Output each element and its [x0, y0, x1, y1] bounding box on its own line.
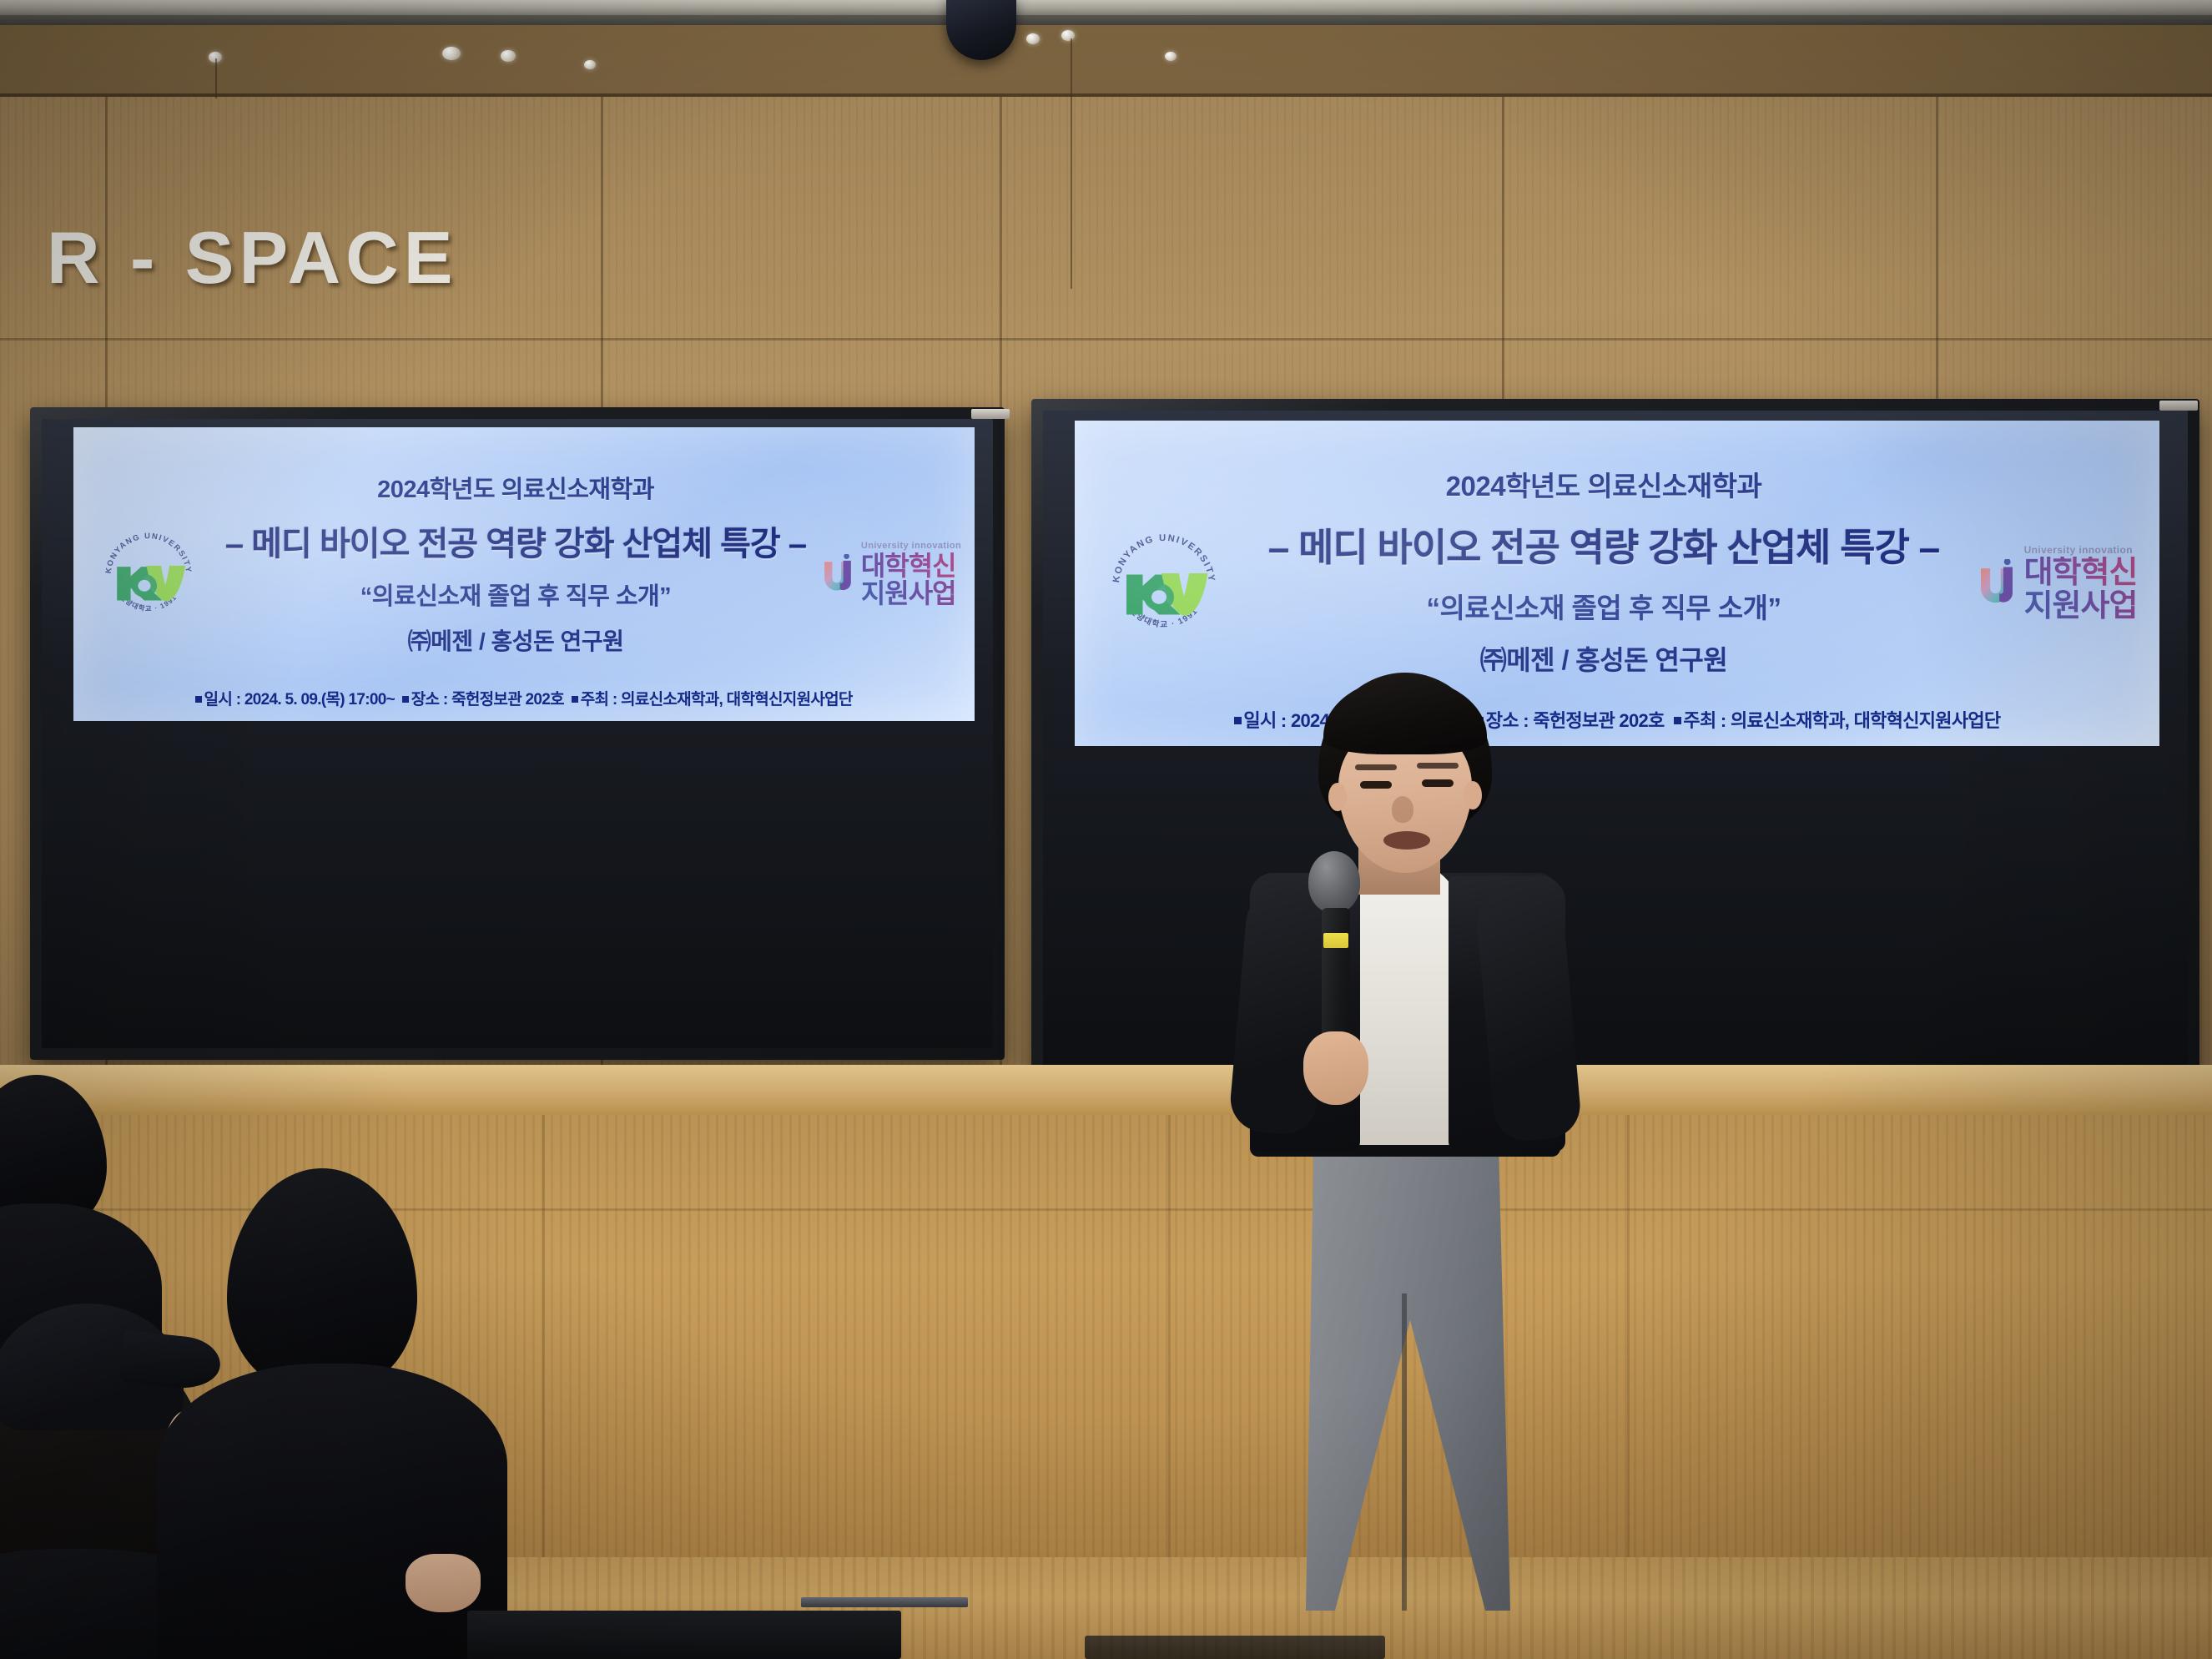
speaker-brow-left — [1355, 764, 1397, 770]
slide-title: – 메디 바이오 전공 역량 강화 산업체 특강 – — [1268, 517, 1940, 572]
ceiling-light-icon — [584, 60, 596, 69]
lecture-hall-photo: R - SPACE — [0, 0, 2212, 1659]
ui-logo-korean-2: 지원사업 — [861, 580, 961, 607]
ui-logo-korean-1: 대학혁신 — [861, 552, 961, 579]
display-sensor-icon — [2159, 401, 2198, 411]
slide-subtitle: “의료신소재 졸업 후 직무 소개” — [1427, 586, 1781, 626]
right-slide: KONYANG UNIVERSITY 건양대학교 · 1991 — [1075, 421, 2159, 746]
venue-wall-sign: R - SPACE — [47, 215, 457, 300]
bullet-square-icon — [1674, 717, 1681, 724]
trouser-seam — [1402, 1293, 1407, 1611]
footer-host-value: 의료신소재학과, 대학혁신지원사업단 — [621, 691, 853, 708]
university-innovation-logo-icon: University innovation 대학혁신 지원사업 — [821, 542, 961, 608]
hanging-wire — [215, 58, 217, 98]
konyang-university-logo-icon: KONYANG UNIVERSITY 건양대학교 · 1991 — [1101, 521, 1227, 646]
university-innovation-logo-icon: University innovation 대학혁신 지원사업 — [1977, 545, 2138, 622]
slide-title: – 메디 바이오 전공 역량 강화 산업체 특강 – — [225, 517, 806, 565]
speaker-ear-left — [1328, 783, 1347, 811]
slide-presenter: ㈜메젠 / 홍성돈 연구원 — [1480, 639, 1728, 678]
ceiling-light-icon — [1026, 33, 1040, 44]
footer-date-label: 일시 — [204, 691, 233, 708]
microphone-body-icon[interactable] — [1322, 908, 1350, 1051]
ui-logo-korean-1: 대학혁신 — [2024, 557, 2138, 588]
left-display-screen: KONYANG UNIVERSITY 건양대학교 · 1991 — [42, 419, 993, 1048]
ceiling-light-icon — [501, 50, 516, 62]
stage-cap-trim — [0, 1065, 2212, 1115]
footer-place-value: 죽헌정보관 202호 — [451, 691, 564, 708]
stage-panel-seam — [542, 1115, 545, 1557]
footer-place-label: 장소 — [411, 691, 440, 708]
slide-footer: 일시 : 2024. 5. 09.(목) 17:00~장소 : 죽헌정보관 20… — [73, 687, 975, 709]
upper-wall-band — [0, 25, 2212, 98]
speaker-mouth — [1383, 831, 1430, 850]
bullet-square-icon — [195, 696, 202, 703]
slide-subtitle: “의료신소재 졸업 후 직무 소개” — [360, 577, 671, 612]
ceiling-light-icon — [1165, 52, 1177, 61]
left-slide: KONYANG UNIVERSITY 건양대학교 · 1991 — [73, 427, 975, 721]
ceiling-light-icon — [442, 47, 461, 60]
footer-host-value: 의료신소재학과, 대학혁신지원사업단 — [1731, 710, 2000, 731]
ui-logo-korean-2: 지원사업 — [2024, 590, 2138, 622]
speaker-hand — [1303, 1031, 1368, 1105]
speaker-eye-left — [1360, 781, 1392, 789]
speaker-brow-right — [1417, 763, 1459, 769]
display-sensor-icon — [971, 409, 1010, 419]
speaker-shirt — [1342, 865, 1465, 1145]
slide-eyebrow: 2024학년도 의료신소재학과 — [377, 470, 654, 505]
front-desk-edge — [801, 1597, 968, 1607]
bullet-square-icon — [572, 696, 578, 703]
ceiling-light-icon — [1061, 30, 1075, 41]
slide-presenter: ㈜메젠 / 홍성돈 연구원 — [408, 623, 624, 657]
stage-panel-seam — [1168, 1115, 1171, 1557]
microphone-head-icon[interactable] — [1308, 851, 1360, 913]
stage-panel-seam — [1627, 1115, 1630, 1557]
speaker-eye-right — [1422, 779, 1454, 787]
audience-3-hand — [406, 1554, 481, 1612]
konyang-university-logo-icon: KONYANG UNIVERSITY 건양대학교 · 1991 — [96, 522, 201, 627]
wall-horizontal-seam — [0, 338, 2212, 340]
bullet-square-icon — [402, 696, 409, 703]
ui-logo-english: University innovation — [2024, 545, 2138, 555]
ui-logo-english: University innovation — [861, 542, 961, 551]
audience-3-body — [157, 1364, 507, 1659]
front-desk-right — [1085, 1636, 1385, 1659]
slide-eyebrow: 2024학년도 의료신소재학과 — [1446, 464, 1762, 504]
speaker-nose — [1392, 796, 1413, 823]
hanging-wire — [1071, 38, 1072, 289]
front-desk — [467, 1611, 901, 1659]
left-display[interactable]: KONYANG UNIVERSITY 건양대학교 · 1991 — [30, 407, 1005, 1060]
footer-date-value: 2024. 5. 09.(목) 17:00~ — [244, 691, 395, 708]
footer-host-label: 주최 — [581, 691, 609, 708]
speaker-ear-right — [1464, 781, 1482, 809]
footer-host-label: 주최 — [1683, 710, 1716, 731]
speaker — [1202, 718, 1594, 1659]
microphone-label — [1323, 933, 1348, 948]
